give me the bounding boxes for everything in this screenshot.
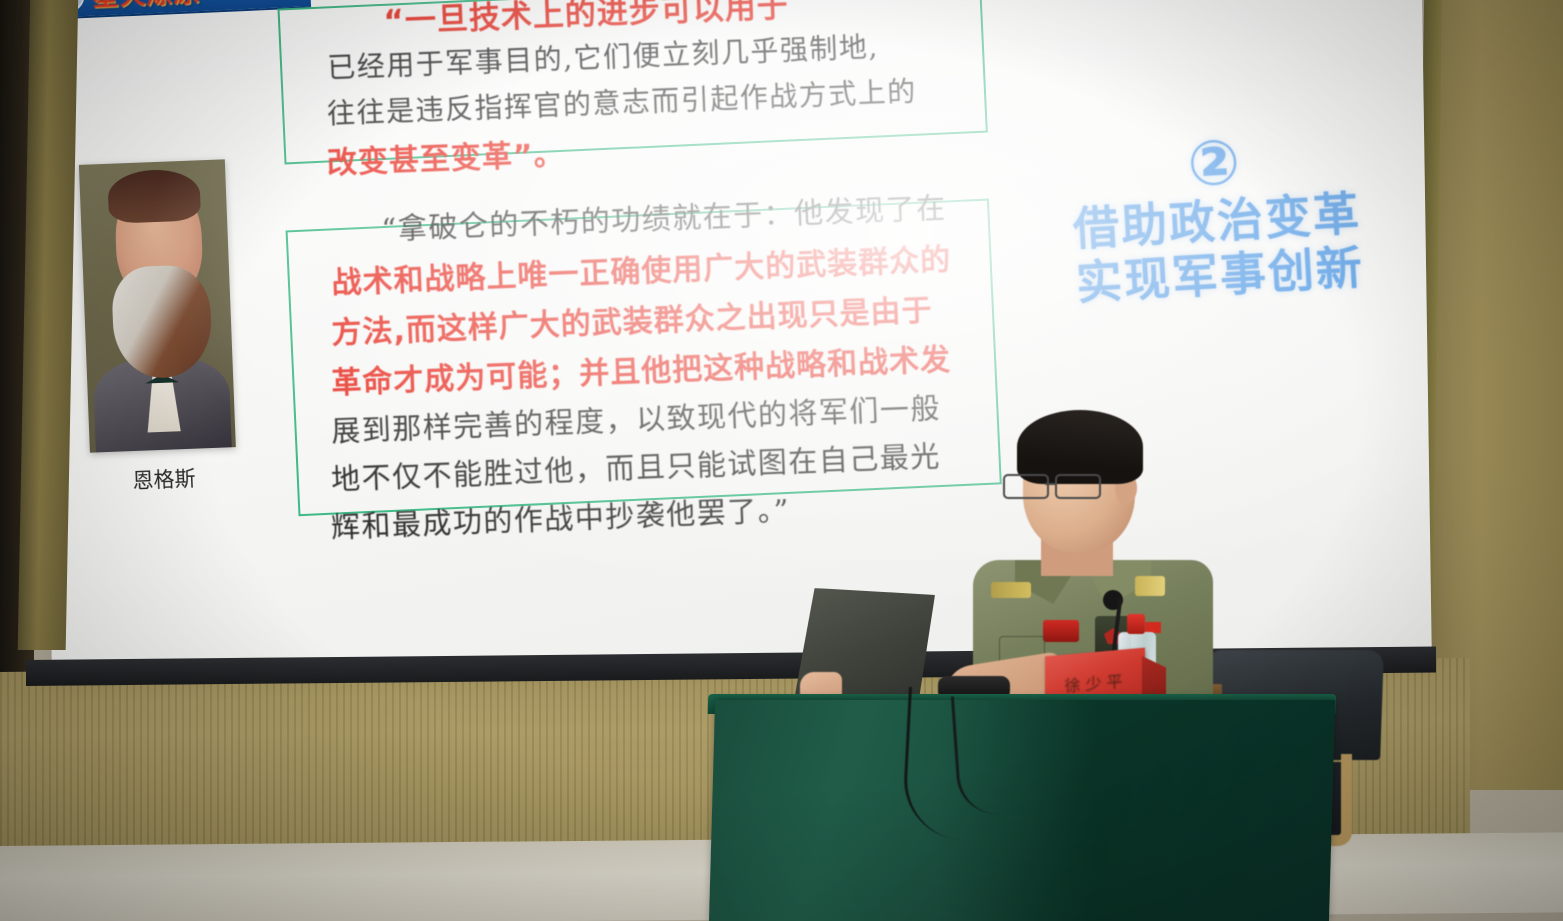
rank-insignia-left	[991, 582, 1031, 598]
section-heading-block: ② 借助政治变革 实现军事创新	[1037, 123, 1396, 313]
lecture-hall-scene: 星火燎原 精品 恩格斯 “一旦技术上的进步可以用于 已经用于军事目的,它们便立刻…	[0, 0, 1563, 921]
quote1-line4-red: 改变甚至变革”。	[326, 129, 565, 182]
engels-portrait-image	[79, 159, 236, 452]
bottle-cap	[1127, 614, 1145, 634]
engels-portrait-block: 恩格斯	[79, 159, 238, 496]
portrait-caption: 恩格斯	[90, 461, 237, 497]
banner-subtitle: 精品	[208, 0, 245, 3]
slide-banner: 星火燎原 精品	[41, 0, 311, 20]
portrait-hair	[107, 168, 201, 223]
banner-title: 星火燎原	[92, 0, 202, 13]
chest-ribbon-badge	[1043, 620, 1079, 642]
glasses-icon	[1003, 474, 1109, 496]
rank-insignia-right	[1135, 576, 1165, 596]
presenter-hair	[1017, 410, 1143, 484]
